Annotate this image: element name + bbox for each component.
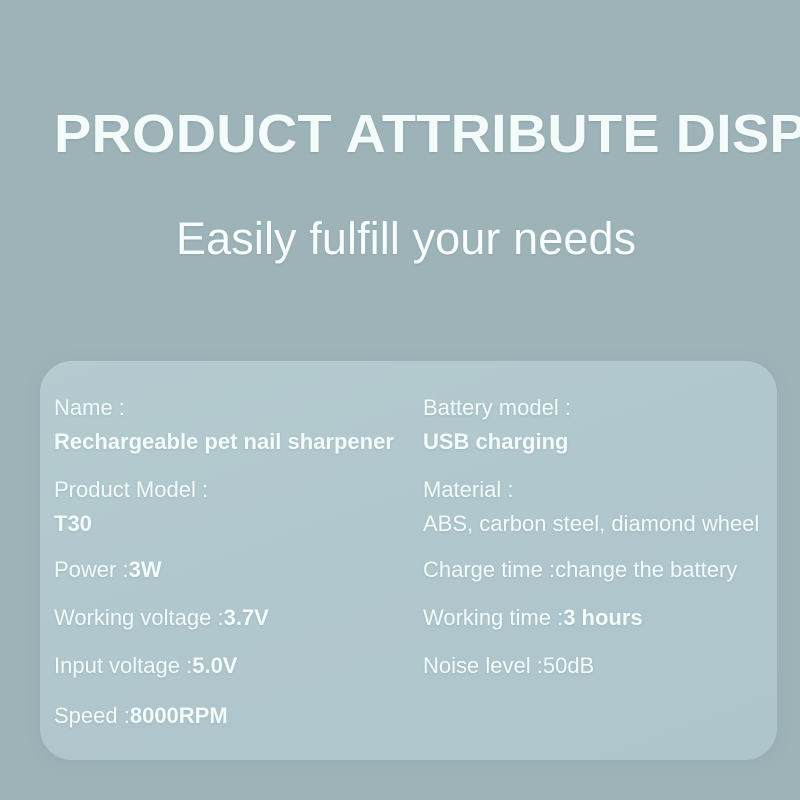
spec-row: Charge time :change the battery [423,555,737,585]
spec-value: 50dB [543,653,594,678]
spec-row: Input voltage :5.0V [54,651,237,681]
spec-row: Noise level :50dB [423,651,594,681]
spec-row: Name :Rechargeable pet nail sharpener [54,393,394,457]
spec-label: Name : [54,393,394,423]
spec-value: T30 [54,509,208,539]
spec-row: Product Model :T30 [54,475,208,539]
spec-row: Battery model :USB charging [423,393,571,457]
spec-label: Speed : [54,703,130,728]
spec-value: 5.0V [192,653,237,678]
spec-label: Working voltage : [54,605,224,630]
spec-label: Product Model : [54,475,208,505]
page-subtitle: Easily fulfill your needs [176,211,636,267]
spec-label: Noise level : [423,653,543,678]
spec-value: 3W [129,557,162,582]
page-title: PRODUCT ATTRIBUTE DISPLAY [54,104,795,164]
spec-label: Material : [423,475,759,505]
spec-row: Working time :3 hours [423,603,643,633]
spec-value: USB charging [423,427,571,457]
spec-label: Battery model : [423,393,571,423]
specification-card: Name :Rechargeable pet nail sharpenerPro… [40,361,777,760]
spec-value: 3.7V [224,605,269,630]
spec-value: change the battery [555,557,737,582]
spec-label: Charge time : [423,557,555,582]
spec-value: Rechargeable pet nail sharpener [54,427,394,457]
spec-value: 8000RPM [130,703,228,728]
spec-value: ABS, carbon steel, diamond wheel [423,509,759,539]
product-attribute-page: PRODUCT ATTRIBUTE DISPLAY Easily fulfill… [0,0,800,800]
spec-row: Speed :8000RPM [54,701,228,731]
spec-row: Power :3W [54,555,162,585]
spec-label: Input voltage : [54,653,192,678]
spec-row: Material :ABS, carbon steel, diamond whe… [423,475,759,539]
spec-row: Working voltage :3.7V [54,603,269,633]
spec-value: 3 hours [563,605,642,630]
spec-label: Working time : [423,605,563,630]
spec-label: Power : [54,557,129,582]
